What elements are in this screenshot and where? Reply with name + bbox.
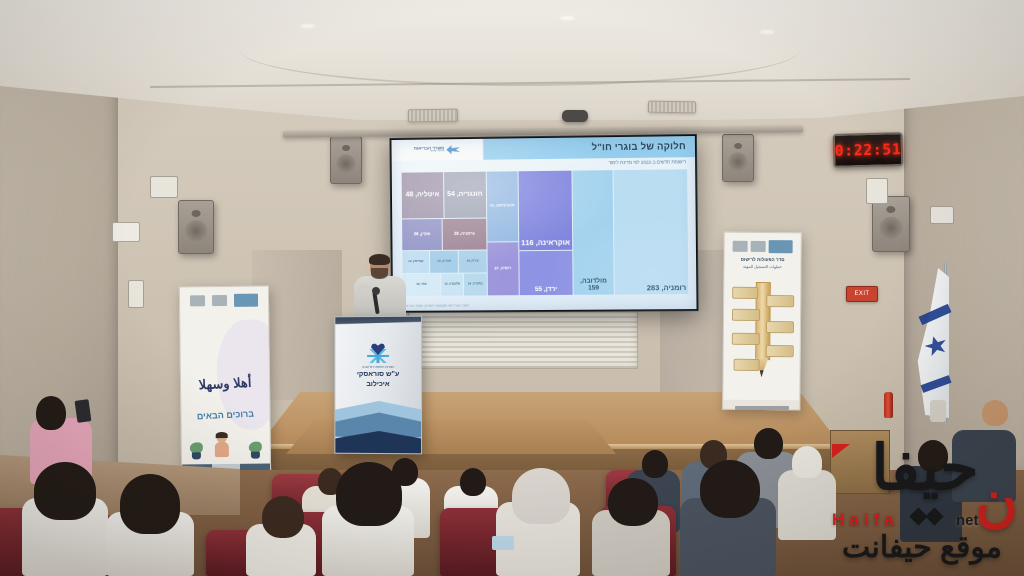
attendee-head bbox=[36, 396, 66, 430]
smartphone-icon bbox=[75, 399, 92, 423]
screenshot-root: EXIT 0:22:51 משרד הבריאות מדינת ישראל חל… bbox=[0, 0, 1024, 576]
projection-screen: משרד הבריאות מדינת ישראל חלוקה של בוגרי … bbox=[389, 134, 698, 313]
wall-sign bbox=[930, 206, 954, 224]
partner-logo-icon bbox=[751, 240, 766, 251]
attendee-torso bbox=[778, 470, 836, 540]
treemap-cell-label: בולגריה, 16 bbox=[464, 282, 486, 286]
treemap-cell[interactable]: אוזבקיסטן, 41 bbox=[486, 171, 518, 241]
treemap-column-right: איטליה, 48 הונגריה, 54 פולין, 26 גרמניה,… bbox=[402, 172, 487, 296]
partner-logo-icon bbox=[212, 294, 227, 305]
treemap-cell-label: הונגריה, 54 bbox=[444, 190, 486, 199]
attendee-head bbox=[34, 462, 96, 520]
no-smoking-sign bbox=[112, 222, 140, 242]
ceiling-projector-icon bbox=[562, 110, 588, 122]
banner-step-tag bbox=[732, 309, 760, 321]
smartphone-icon bbox=[930, 400, 946, 422]
podium: המרכז הרפואי תל אביב ע"ש סוראסקי איכילוב bbox=[334, 316, 422, 455]
banner-logo-strip bbox=[725, 238, 801, 255]
wall-box bbox=[150, 176, 178, 198]
slide-subtitle: רישומת חדשים ב-2022 לפי מדינת לימוד bbox=[608, 159, 686, 165]
attendee-head bbox=[700, 460, 760, 518]
banner-stand-base bbox=[735, 406, 789, 410]
treemap-row: פולין, 26 גרמניה, 28 bbox=[402, 219, 486, 251]
treemap-row: קפריסין, 12 ארה"ב, 14 צ'כיה, 19 bbox=[402, 251, 486, 273]
presenter-hair bbox=[369, 254, 390, 265]
hospital-logo-mark-icon bbox=[367, 343, 389, 363]
treemap-cell-label: ארה"ב, 14 bbox=[430, 260, 458, 264]
attendee-head bbox=[120, 474, 180, 534]
ministry-of-health-logo: משרד הבריאות מדינת ישראל bbox=[391, 139, 483, 161]
treemap-chart: איטליה, 48 הונגריה, 54 פולין, 26 גרמניה,… bbox=[402, 169, 689, 296]
rollup-banner-process: סדר הפעולות לרישום خطوات التسجيل للمهنة bbox=[722, 232, 802, 411]
treemap-cell[interactable]: סלובקיה, 10 bbox=[441, 274, 463, 296]
treemap-cell[interactable]: צ'כיה, 19 bbox=[459, 251, 486, 273]
wall-box bbox=[866, 178, 888, 204]
treemap-cell-label: מולדובה, 159 bbox=[574, 277, 614, 294]
partner-logo-icon bbox=[732, 240, 747, 251]
slide-header: משרד הבריאות מדינת ישראל חלוקה של בוגרי … bbox=[391, 136, 695, 161]
ceiling-light bbox=[560, 16, 575, 20]
ceiling-arc bbox=[240, 14, 800, 86]
ceiling-light bbox=[300, 24, 315, 28]
star-of-david-icon bbox=[446, 145, 460, 154]
partner-logo-icon bbox=[769, 240, 793, 253]
treemap-cell[interactable]: רומניה, 283 bbox=[613, 169, 688, 294]
banner-step-tag bbox=[766, 345, 794, 357]
banner-step-tag bbox=[732, 287, 758, 299]
attendee-head-hijab bbox=[512, 468, 570, 524]
banner-step-tag bbox=[766, 295, 794, 307]
treemap-cell[interactable]: רוסיה, 37 bbox=[487, 242, 518, 295]
led-clock: 0:22:51 bbox=[833, 132, 904, 168]
presenter bbox=[352, 256, 408, 322]
hospital-logo-line1: ע"ש סוראסקי bbox=[357, 371, 399, 379]
wall-speaker bbox=[722, 134, 754, 182]
attendee-head bbox=[754, 428, 783, 459]
treemap-cell[interactable]: ירדן, 55 bbox=[519, 250, 573, 295]
treemap-cell[interactable]: איטליה, 48 bbox=[402, 172, 444, 218]
wall-box bbox=[128, 280, 144, 308]
banner-person-illustration bbox=[213, 433, 229, 457]
hospital-logo-line2: איכילוב bbox=[366, 381, 389, 389]
treemap-column-mid-small: אוזבקיסטן, 41 רוסיה, 37 bbox=[486, 171, 518, 295]
treemap-cell-label: רוסיה, 37 bbox=[487, 266, 518, 272]
treemap-cell-label: צ'כיה, 19 bbox=[459, 260, 486, 264]
moh-logo-line2: מדינת ישראל bbox=[430, 151, 444, 154]
attendee-head-hijab bbox=[792, 446, 822, 478]
treemap-cell[interactable]: גרמניה, 28 bbox=[443, 219, 486, 251]
treemap-cell-label: אוזבקיסטן, 41 bbox=[487, 204, 518, 210]
smartphone-icon bbox=[492, 536, 514, 550]
ceiling-light bbox=[760, 30, 775, 34]
exit-sign: EXIT bbox=[846, 286, 878, 302]
slide-title-band: חלוקה של בוגרי חו"ל bbox=[483, 136, 695, 160]
banner-step-tag bbox=[766, 321, 794, 333]
attendee-head bbox=[336, 462, 402, 526]
ceiling-vent-icon bbox=[408, 109, 458, 123]
treemap-cell-label: רומניה, 283 bbox=[614, 284, 688, 295]
rollup-banner-welcome: أهلا وسهلا ברוכים הבאים bbox=[179, 285, 271, 474]
treemap-cell[interactable]: הונגריה, 54 bbox=[444, 172, 486, 218]
treemap-cell-label: אחר, 18 bbox=[403, 283, 441, 287]
banner-step-tag bbox=[734, 359, 760, 371]
podium-top-surface bbox=[334, 316, 422, 325]
attendee-head bbox=[642, 450, 668, 478]
partner-logo-icon bbox=[234, 293, 258, 306]
presenter-beard bbox=[371, 268, 388, 279]
banner-plant-illustration bbox=[249, 443, 262, 459]
attendee-head bbox=[982, 400, 1008, 426]
treemap-row: איטליה, 48 הונגריה, 54 bbox=[402, 172, 486, 219]
attendee-head bbox=[608, 478, 658, 526]
fire-extinguisher-icon bbox=[884, 392, 893, 418]
attendee-torso bbox=[952, 430, 1016, 502]
banner-logo-strip bbox=[180, 291, 268, 308]
treemap-cell[interactable]: ארה"ב, 14 bbox=[430, 251, 458, 273]
treemap-column-ukraine: אוקראינה, 116 ירדן, 55 bbox=[518, 171, 573, 296]
treemap-cell-label: אוקראינה, 116 bbox=[519, 238, 573, 250]
banner-arabic-headline: خطوات التسجيل للمهنة bbox=[724, 264, 800, 270]
ceiling-vent-icon bbox=[648, 101, 696, 114]
treemap-cell-label: פולין, 26 bbox=[402, 232, 442, 238]
wall-speaker bbox=[872, 196, 910, 252]
partner-logo-icon bbox=[190, 295, 205, 306]
clock-time: 0:22:51 bbox=[834, 140, 901, 160]
treemap-row: אחר, 18 סלובקיה, 10 בולגריה, 16 bbox=[403, 274, 487, 296]
slide-title: חלוקה של בוגרי חו"ל bbox=[592, 141, 686, 153]
treemap-cell-label: סלובקיה, 10 bbox=[441, 283, 463, 287]
banner-step-tag bbox=[732, 333, 760, 345]
banner-plant-illustration bbox=[190, 443, 203, 459]
presentation-slide: משרד הבריאות מדינת ישראל חלוקה של בוגרי … bbox=[391, 136, 696, 311]
hospital-logo-subtitle: המרכז הרפואי תל אביב bbox=[362, 365, 395, 369]
treemap-cell-label: איטליה, 48 bbox=[402, 191, 443, 200]
treemap-cell[interactable]: בולגריה, 16 bbox=[464, 274, 486, 296]
slide-footer-source: מקור: אגף רישוי מקצועות רפואיים, משרד הב… bbox=[403, 303, 469, 307]
treemap-cell[interactable]: מולדובה, 159 bbox=[573, 170, 614, 295]
treemap-cell[interactable]: אחר, 18 bbox=[403, 274, 441, 296]
microphone-head-icon bbox=[372, 287, 380, 295]
treemap-cell[interactable]: פולין, 26 bbox=[402, 219, 442, 251]
banner-hebrew-headline: סדר הפעולות לרישום bbox=[725, 257, 801, 263]
attendee-head bbox=[918, 440, 948, 472]
treemap-cell[interactable]: אוקראינה, 116 bbox=[518, 171, 572, 250]
attendee-head bbox=[262, 496, 304, 538]
stage-back-grille bbox=[408, 307, 639, 369]
wall-speaker bbox=[330, 136, 362, 184]
treemap-cell-label: ירדן, 55 bbox=[519, 286, 573, 295]
wall-speaker bbox=[178, 200, 214, 254]
treemap-cell-label: גרמניה, 28 bbox=[443, 231, 486, 237]
attendee-head bbox=[460, 468, 486, 496]
door-frame bbox=[830, 430, 890, 494]
hospital-logo: המרכז הרפואי תל אביב ע"ש סוראסקי איכילוב bbox=[341, 343, 415, 389]
